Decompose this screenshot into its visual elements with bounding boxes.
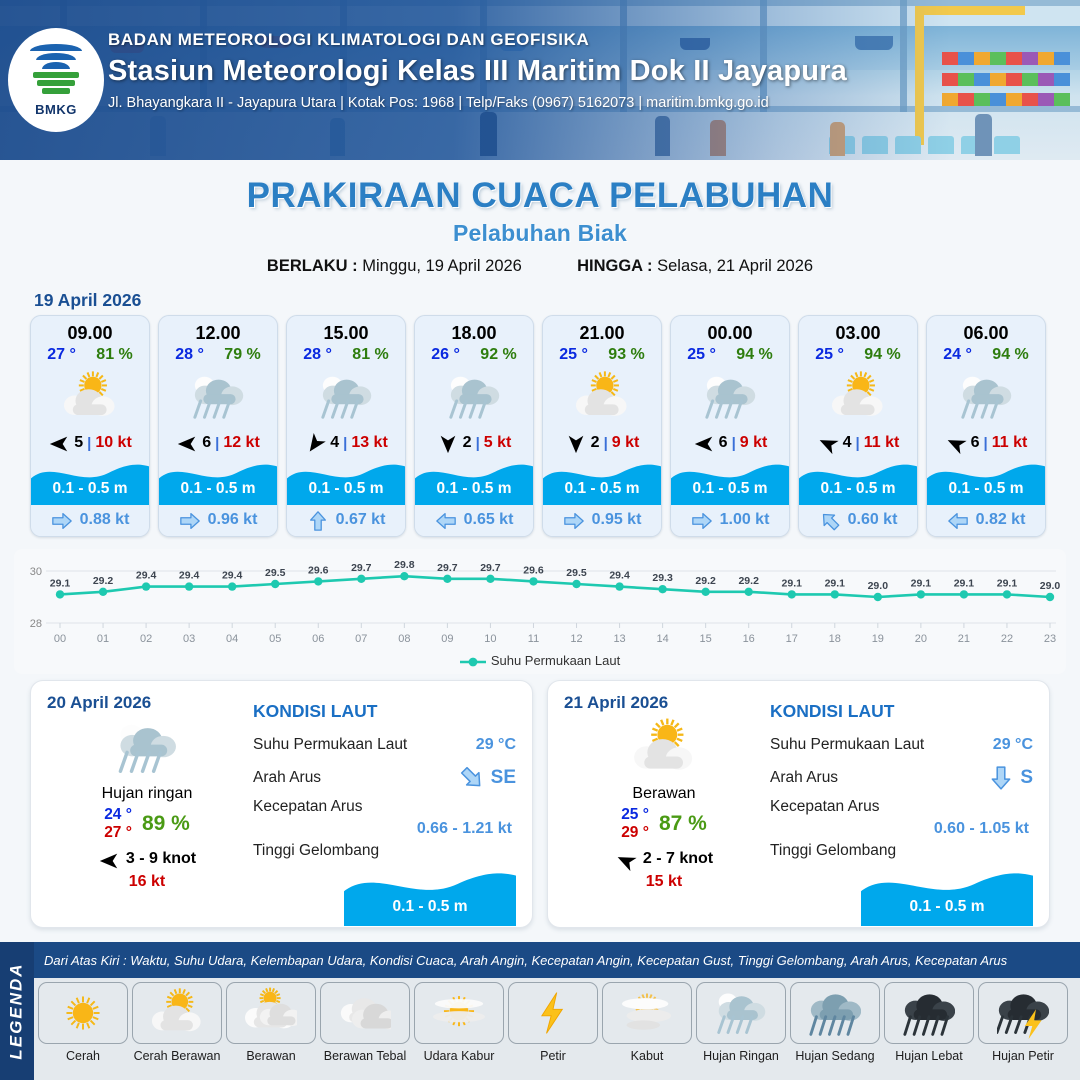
card-gust: 12 kt [223, 434, 259, 452]
card-wind-row: 6 | 11 kt [927, 428, 1045, 459]
card-current-row: 0.60 kt [799, 505, 917, 536]
card-current-speed: 1.00 kt [720, 511, 770, 529]
card-wave-height: 0.1 - 0.5 m [31, 480, 149, 498]
wind-direction-arrow-icon [817, 433, 839, 453]
panel-wind-range: 2 - 7 knot [643, 850, 713, 868]
wave-height-label: Tinggi Gelombang [770, 842, 896, 860]
panel-date: 21 April 2026 [564, 693, 764, 713]
weather-icon-hujan-ringan [927, 366, 1045, 428]
card-wave-band: 0.1 - 0.5 m [287, 459, 405, 505]
card-wave-height: 0.1 - 0.5 m [927, 480, 1045, 498]
legend-item-label: Udara Kabur [414, 1049, 504, 1063]
legend-item: Hujan Sedang [790, 982, 880, 1063]
svg-text:19: 19 [872, 633, 884, 645]
card-current-row: 0.65 kt [415, 505, 533, 536]
card-wind-row: 4 | 11 kt [799, 428, 917, 459]
card-current-row: 0.88 kt [31, 505, 149, 536]
svg-text:23: 23 [1044, 633, 1056, 645]
card-current-row: 0.67 kt [287, 505, 405, 536]
logo-arcs-icon [30, 44, 82, 70]
svg-text:29.4: 29.4 [222, 570, 243, 582]
current-direction-value: S [1020, 767, 1033, 789]
card-wind-row: 2 | 9 kt [543, 428, 661, 459]
legend-item-label: Hujan Sedang [790, 1049, 880, 1063]
card-current-speed: 0.60 kt [848, 511, 898, 529]
legend-icon-petir [508, 982, 598, 1044]
legend-item-label: Cerah Berawan [132, 1049, 222, 1063]
legend-icon-hujan-ringan [696, 982, 786, 1044]
svg-text:30: 30 [30, 566, 42, 578]
svg-text:29.1: 29.1 [911, 577, 932, 589]
panel-left: 20 April 2026 Hujan ringan 24 ° 27 ° 89 … [47, 693, 247, 913]
panel-temp-max: 29 ° [621, 824, 649, 842]
svg-text:29.4: 29.4 [609, 570, 630, 582]
svg-text:17: 17 [786, 633, 798, 645]
svg-text:22: 22 [1001, 633, 1013, 645]
card-wind-speed: 4 [330, 434, 339, 452]
svg-text:12: 12 [570, 633, 582, 645]
forecast-card: 03.00 25 ° 94 % 4 | 11 kt 0.1 - 0.5 m [798, 315, 918, 537]
wind-direction-arrow-icon [945, 433, 967, 453]
card-humidity: 79 % [224, 346, 260, 364]
panel-wave-height: 0.1 - 0.5 m [344, 898, 516, 916]
panel-sea-conditions: KONDISI LAUT Suhu Permukaan Laut 29 °C A… [247, 693, 516, 913]
legend-items-row: Cerah Cerah Berawan Berawan [38, 982, 1076, 1063]
card-temperature: 25 ° [687, 346, 716, 364]
svg-text:14: 14 [656, 633, 668, 645]
legend-item-label: Kabut [602, 1049, 692, 1063]
card-current-speed: 0.96 kt [208, 511, 258, 529]
card-wave-height: 0.1 - 0.5 m [543, 480, 661, 498]
current-direction-arrow-icon [947, 510, 969, 529]
svg-text:07: 07 [355, 633, 367, 645]
panel-wave-band: 0.1 - 0.5 m [770, 866, 1033, 926]
card-time: 03.00 [799, 316, 917, 345]
panel-temp-max: 27 ° [104, 824, 132, 842]
weather-icon-cerah-berawan [564, 715, 764, 781]
svg-text:15: 15 [700, 633, 712, 645]
legend-side-text: LEGENDA [7, 962, 27, 1059]
chart-legend-label: Suhu Permukaan Laut [491, 653, 620, 668]
legend-icon-kabut [602, 982, 692, 1044]
page-title: PRAKIRAAN CUACA PELABUHAN [0, 176, 1080, 216]
sea-conditions-title: KONDISI LAUT [253, 701, 516, 722]
svg-text:10: 10 [484, 633, 496, 645]
separator: | [87, 435, 91, 452]
port-name: Pelabuhan Biak [0, 220, 1080, 247]
weather-icon-hujan-ringan [287, 366, 405, 428]
card-wave-height: 0.1 - 0.5 m [415, 480, 533, 498]
svg-text:29.5: 29.5 [566, 567, 587, 579]
sst-label: Suhu Permukaan Laut [770, 736, 924, 754]
svg-text:29.1: 29.1 [954, 577, 975, 589]
card-current-speed: 0.88 kt [80, 511, 130, 529]
agency-name: BADAN METEOROLOGI KLIMATOLOGI DAN GEOFIS… [108, 30, 847, 50]
wind-direction-arrow-icon [48, 433, 70, 453]
current-speed-label: Kecepatan Arus [770, 798, 879, 816]
card-wind-speed: 6 [202, 434, 211, 452]
card-humidity: 94 % [864, 346, 900, 364]
panel-condition: Hujan ringan [47, 785, 247, 803]
card-gust: 10 kt [95, 434, 131, 452]
legend-item-label: Cerah [38, 1049, 128, 1063]
svg-text:29.8: 29.8 [394, 559, 415, 571]
card-gust: 11 kt [864, 434, 900, 452]
svg-text:29.1: 29.1 [50, 577, 71, 589]
svg-text:21: 21 [958, 633, 970, 645]
card-wave-band: 0.1 - 0.5 m [31, 459, 149, 505]
card-gust: 13 kt [351, 434, 387, 452]
current-direction-arrow-icon [819, 510, 841, 529]
current-direction-label: Arah Arus [253, 769, 321, 787]
svg-text:29.2: 29.2 [93, 575, 114, 587]
bmkg-logo: BMKG [8, 28, 104, 132]
logo-waves-icon [33, 72, 79, 100]
svg-text:29.0: 29.0 [868, 580, 889, 592]
separator: | [476, 435, 480, 452]
card-humidity: 92 % [480, 346, 516, 364]
card-time: 21.00 [543, 316, 661, 345]
card-temperature: 24 ° [943, 346, 972, 364]
svg-text:29.1: 29.1 [782, 577, 803, 589]
separator: | [984, 435, 988, 452]
current-direction-arrow-icon [51, 510, 73, 529]
current-direction-arrow-icon [435, 510, 457, 529]
card-wave-height: 0.1 - 0.5 m [671, 480, 789, 498]
card-humidity: 81 % [352, 346, 388, 364]
weather-icon-hujan-ringan [47, 715, 247, 781]
current-speed-value: 0.66 - 1.21 kt [253, 820, 516, 838]
legend-icon-berawan-tebal [320, 982, 410, 1044]
legend-item: Hujan Petir [978, 982, 1068, 1063]
separator: | [343, 435, 347, 452]
forecast-card: 21.00 25 ° 93 % 2 | 9 kt 0.1 - 0.5 m [542, 315, 662, 537]
svg-text:29.1: 29.1 [997, 577, 1018, 589]
card-temperature: 26 ° [431, 346, 460, 364]
legend-icon-hujan-lebat [884, 982, 974, 1044]
card-humidity: 93 % [608, 346, 644, 364]
panel-wave-band: 0.1 - 0.5 m [253, 866, 516, 926]
legend-item: Berawan Tebal [320, 982, 410, 1063]
card-time: 12.00 [159, 316, 277, 345]
card-time: 18.00 [415, 316, 533, 345]
wind-direction-arrow-icon [693, 433, 715, 453]
svg-text:03: 03 [183, 633, 195, 645]
legend-item-label: Hujan Petir [978, 1049, 1068, 1063]
wind-direction-arrow-icon [304, 433, 326, 453]
svg-text:29.6: 29.6 [308, 564, 329, 576]
sst-value: 29 °C [476, 736, 516, 754]
panel-left: 21 April 2026 Berawan 25 ° 29 ° 87 % 2 -… [564, 693, 764, 913]
valid-from-value: Minggu, 19 April 2026 [362, 257, 522, 275]
legend-note: Dari Atas Kiri : Waktu, Suhu Udara, Kele… [34, 942, 1080, 978]
legend-item: Petir [508, 982, 598, 1063]
wave-height-label: Tinggi Gelombang [253, 842, 379, 860]
svg-text:00: 00 [54, 633, 66, 645]
card-gust: 5 kt [484, 434, 512, 452]
forecast-day-label: 19 April 2026 [34, 290, 1080, 311]
card-time: 09.00 [31, 316, 149, 345]
card-wind-speed: 6 [719, 434, 728, 452]
card-wave-height: 0.1 - 0.5 m [287, 480, 405, 498]
card-wind-speed: 5 [74, 434, 83, 452]
svg-text:01: 01 [97, 633, 109, 645]
legend-icon-udara-kabur [414, 982, 504, 1044]
panel-wave-height: 0.1 - 0.5 m [861, 898, 1033, 916]
panel-temp-min: 24 ° [104, 806, 132, 824]
current-direction-arrow-icon [691, 510, 713, 529]
svg-text:29.0: 29.0 [1040, 580, 1061, 592]
card-wind-row: 4 | 13 kt [287, 428, 405, 459]
page-header: BMKG BADAN METEOROLOGI KLIMATOLOGI DAN G… [0, 0, 1080, 160]
weather-icon-hujan-ringan [415, 366, 533, 428]
legend-bar: LEGENDA Dari Atas Kiri : Waktu, Suhu Uda… [0, 942, 1080, 1080]
panel-wind-row: 3 - 9 knot [47, 850, 247, 868]
header-text-block: BADAN METEOROLOGI KLIMATOLOGI DAN GEOFIS… [108, 30, 847, 111]
wind-direction-arrow-icon [98, 850, 120, 868]
card-wave-band: 0.1 - 0.5 m [799, 459, 917, 505]
panel-gust: 15 kt [564, 873, 764, 891]
current-speed-label: Kecepatan Arus [253, 798, 362, 816]
separator: | [215, 435, 219, 452]
legend-item-label: Petir [508, 1049, 598, 1063]
svg-text:29.7: 29.7 [351, 562, 372, 574]
panel-sea-conditions: KONDISI LAUT Suhu Permukaan Laut 29 °C A… [764, 693, 1033, 913]
current-direction-label: Arah Arus [770, 769, 838, 787]
forecast-card: 12.00 28 ° 79 % 6 | 12 kt 0.1 - 0.5 m [158, 315, 278, 537]
legend-item: Berawan [226, 982, 316, 1063]
svg-text:29.5: 29.5 [265, 567, 286, 579]
card-wind-speed: 6 [971, 434, 980, 452]
card-wave-height: 0.1 - 0.5 m [799, 480, 917, 498]
weather-icon-cerah-berawan [799, 366, 917, 428]
svg-text:16: 16 [743, 633, 755, 645]
card-wind-speed: 2 [591, 434, 600, 452]
card-time: 15.00 [287, 316, 405, 345]
current-direction-arrow-icon [459, 765, 483, 791]
logo-label: BMKG [35, 102, 77, 117]
current-direction-arrow-icon [307, 510, 329, 529]
chart-legend: Suhu Permukaan Laut [14, 653, 1066, 672]
separator: | [732, 435, 736, 452]
card-humidity: 81 % [96, 346, 132, 364]
chart-legend-swatch [460, 656, 486, 668]
separator: | [604, 435, 608, 452]
panel-date: 20 April 2026 [47, 693, 247, 713]
weather-icon-cerah-berawan [31, 366, 149, 428]
legend-icon-cerah-berawan [132, 982, 222, 1044]
panel-gust: 16 kt [47, 873, 247, 891]
wind-direction-arrow-icon [176, 433, 198, 453]
sst-value: 29 °C [993, 736, 1033, 754]
wind-direction-arrow-icon [615, 850, 637, 868]
daily-panels-row: 20 April 2026 Hujan ringan 24 ° 27 ° 89 … [0, 674, 1080, 928]
legend-item-label: Hujan Ringan [696, 1049, 786, 1063]
weather-icon-hujan-ringan [159, 366, 277, 428]
svg-text:29.3: 29.3 [652, 572, 673, 584]
station-name: Stasiun Meteorologi Kelas III Maritim Do… [108, 55, 847, 88]
svg-text:29.2: 29.2 [738, 575, 759, 587]
daily-forecast-panel: 20 April 2026 Hujan ringan 24 ° 27 ° 89 … [30, 680, 533, 928]
current-speed-value: 0.60 - 1.05 kt [770, 820, 1033, 838]
card-gust: 11 kt [992, 434, 1028, 452]
wind-direction-arrow-icon [565, 433, 587, 453]
card-humidity: 94 % [736, 346, 772, 364]
panel-wind-row: 2 - 7 knot [564, 850, 764, 868]
card-wind-row: 2 | 5 kt [415, 428, 533, 459]
card-wind-speed: 4 [843, 434, 852, 452]
legend-item: Cerah [38, 982, 128, 1063]
card-wave-band: 0.1 - 0.5 m [671, 459, 789, 505]
svg-text:20: 20 [915, 633, 927, 645]
card-wave-height: 0.1 - 0.5 m [159, 480, 277, 498]
svg-text:05: 05 [269, 633, 281, 645]
card-wave-band: 0.1 - 0.5 m [927, 459, 1045, 505]
card-temperature: 25 ° [559, 346, 588, 364]
svg-text:29.7: 29.7 [437, 562, 458, 574]
legend-icon-hujan-petir [978, 982, 1068, 1044]
legend-item-label: Berawan Tebal [320, 1049, 410, 1063]
card-current-speed: 0.95 kt [592, 511, 642, 529]
svg-text:11: 11 [528, 633, 539, 645]
svg-text:04: 04 [226, 633, 238, 645]
card-wind-speed: 2 [463, 434, 472, 452]
card-wave-band: 0.1 - 0.5 m [159, 459, 277, 505]
title-block: PRAKIRAAN CUACA PELABUHAN Pelabuhan Biak… [0, 160, 1080, 276]
card-current-speed: 0.65 kt [464, 511, 514, 529]
legend-item-label: Berawan [226, 1049, 316, 1063]
separator: | [856, 435, 860, 452]
card-current-row: 0.96 kt [159, 505, 277, 536]
legend-item: Hujan Lebat [884, 982, 974, 1063]
validity-row: BERLAKU : Minggu, 19 April 2026 HINGGA :… [0, 257, 1080, 276]
card-wind-row: 6 | 9 kt [671, 428, 789, 459]
svg-text:08: 08 [398, 633, 410, 645]
svg-text:29.7: 29.7 [480, 562, 501, 574]
current-direction-arrow-icon [179, 510, 201, 529]
card-gust: 9 kt [740, 434, 768, 452]
sst-label: Suhu Permukaan Laut [253, 736, 407, 754]
forecast-card: 15.00 28 ° 81 % 4 | 13 kt 0.1 - 0.5 m [286, 315, 406, 537]
card-wave-band: 0.1 - 0.5 m [543, 459, 661, 505]
card-temperature: 25 ° [815, 346, 844, 364]
card-current-speed: 0.67 kt [336, 511, 386, 529]
card-temperature: 28 ° [175, 346, 204, 364]
current-direction-arrow-icon [563, 510, 585, 529]
card-temperature: 27 ° [47, 346, 76, 364]
legend-item: Kabut [602, 982, 692, 1063]
forecast-card: 09.00 27 ° 81 % 5 | 10 kt 0.1 - 0.5 m [30, 315, 150, 537]
svg-text:18: 18 [829, 633, 841, 645]
card-wind-row: 6 | 12 kt [159, 428, 277, 459]
current-direction-arrow-icon [988, 765, 1012, 791]
forecast-card: 18.00 26 ° 92 % 2 | 5 kt 0.1 - 0.5 m [414, 315, 534, 537]
svg-text:02: 02 [140, 633, 152, 645]
valid-until-label: HINGGA : [577, 257, 652, 275]
legend-item-label: Hujan Lebat [884, 1049, 974, 1063]
svg-text:29.1: 29.1 [825, 577, 846, 589]
legend-item: Udara Kabur [414, 982, 504, 1063]
hourly-forecast-row: 09.00 27 ° 81 % 5 | 10 kt 0.1 - 0.5 m [0, 315, 1080, 537]
valid-from-label: BERLAKU : [267, 257, 358, 275]
forecast-card: 06.00 24 ° 94 % 6 | 11 kt 0.1 - 0.5 m [926, 315, 1046, 537]
wind-direction-arrow-icon [437, 433, 459, 453]
card-current-row: 0.82 kt [927, 505, 1045, 536]
current-direction-value: SE [491, 767, 516, 789]
legend-icon-berawan [226, 982, 316, 1044]
svg-text:13: 13 [613, 633, 625, 645]
legend-item: Cerah Berawan [132, 982, 222, 1063]
valid-until-value: Selasa, 21 April 2026 [657, 257, 813, 275]
card-wind-row: 5 | 10 kt [31, 428, 149, 459]
panel-wind-range: 3 - 9 knot [126, 850, 196, 868]
svg-text:28: 28 [30, 618, 42, 630]
svg-text:29.4: 29.4 [179, 570, 200, 582]
svg-text:29.6: 29.6 [523, 564, 544, 576]
station-address: Jl. Bhayangkara II - Jayapura Utara | Ko… [108, 95, 847, 111]
panel-condition: Berawan [564, 785, 764, 803]
sea-conditions-title: KONDISI LAUT [770, 701, 1033, 722]
card-current-row: 0.95 kt [543, 505, 661, 536]
card-gust: 9 kt [612, 434, 640, 452]
panel-temp-min: 25 ° [621, 806, 649, 824]
card-current-row: 1.00 kt [671, 505, 789, 536]
card-time: 00.00 [671, 316, 789, 345]
legend-icon-cerah [38, 982, 128, 1044]
legend-item: Hujan Ringan [696, 982, 786, 1063]
panel-humidity: 89 % [142, 812, 190, 836]
legend-icon-hujan-sedang [790, 982, 880, 1044]
panel-humidity: 87 % [659, 812, 707, 836]
card-temperature: 28 ° [303, 346, 332, 364]
card-wave-band: 0.1 - 0.5 m [415, 459, 533, 505]
card-time: 06.00 [927, 316, 1045, 345]
svg-text:09: 09 [441, 633, 453, 645]
weather-icon-cerah-berawan [543, 366, 661, 428]
forecast-card: 00.00 25 ° 94 % 6 | 9 kt 0.1 - 0.5 m [670, 315, 790, 537]
card-current-speed: 0.82 kt [976, 511, 1026, 529]
svg-text:29.4: 29.4 [136, 570, 157, 582]
svg-text:06: 06 [312, 633, 324, 645]
legend-side-label: LEGENDA [0, 942, 34, 1080]
weather-icon-hujan-ringan [671, 366, 789, 428]
card-humidity: 94 % [992, 346, 1028, 364]
sst-chart-svg: 302829.10029.20129.40229.40329.40429.505… [14, 555, 1066, 651]
svg-text:29.2: 29.2 [695, 575, 716, 587]
daily-forecast-panel: 21 April 2026 Berawan 25 ° 29 ° 87 % 2 -… [547, 680, 1050, 928]
sst-chart: 302829.10029.20129.40229.40329.40429.505… [14, 549, 1066, 674]
